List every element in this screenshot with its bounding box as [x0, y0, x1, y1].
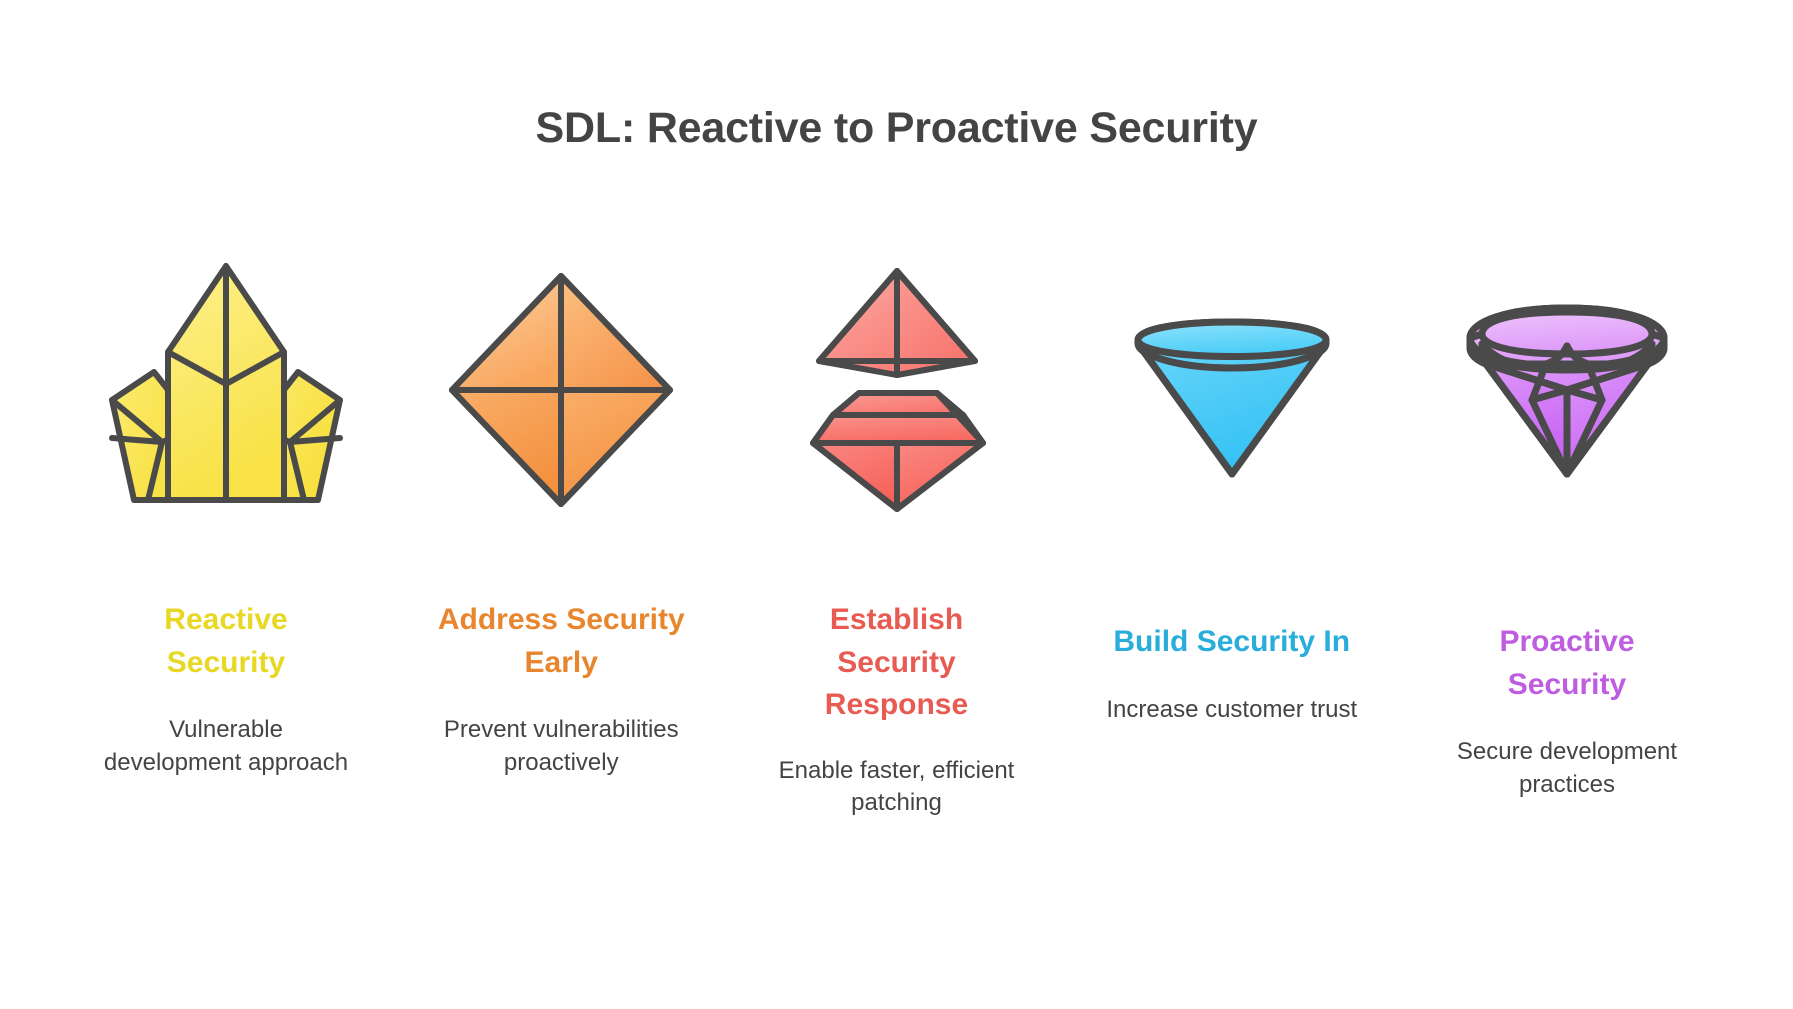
column-reactive-security[interactable]: Reactive Security Vulnerable development… [60, 245, 392, 779]
column-heading: Proactive Security [1442, 621, 1692, 706]
column-proactive-security[interactable]: Proactive Security Secure development pr… [1401, 245, 1733, 801]
illustration-reactive-security [76, 245, 376, 535]
yellow-crystal-cluster-icon [106, 260, 346, 520]
orange-octahedron-gem-icon [446, 270, 676, 510]
columns-row: Reactive Security Vulnerable development… [60, 245, 1733, 820]
slide-canvas: SDL: Reactive to Proactive Security [0, 0, 1793, 1009]
column-body-text: Enable faster, efficient patching [777, 755, 1017, 820]
column-heading: Build Security In [1113, 621, 1350, 664]
column-heading: Establish Security Response [772, 599, 1022, 727]
illustration-establish-security-response [747, 245, 1047, 535]
column-body-text: Prevent vulnerabilities proactively [436, 714, 686, 779]
purple-brilliant-diamond-icon [1462, 300, 1672, 480]
column-body-text: Increase customer trust [1106, 694, 1357, 726]
illustration-proactive-security [1417, 245, 1717, 535]
blue-cone-gem-icon [1132, 300, 1332, 480]
illustration-build-security-in [1082, 245, 1382, 535]
column-address-security-early[interactable]: Address Security Early Prevent vulnerabi… [395, 245, 727, 779]
column-heading: Address Security Early [436, 599, 686, 684]
column-build-security-in[interactable]: Build Security In Increase customer trus… [1066, 245, 1398, 726]
column-establish-security-response[interactable]: Establish Security Response Enable faste… [731, 245, 1063, 820]
column-body-text: Vulnerable development approach [101, 714, 351, 779]
column-body-text: Secure development practices [1422, 736, 1712, 801]
column-heading: Reactive Security [101, 599, 351, 684]
illustration-address-security-early [411, 245, 711, 535]
page-title: SDL: Reactive to Proactive Security [0, 104, 1793, 153]
red-split-gem-icon [797, 265, 997, 515]
